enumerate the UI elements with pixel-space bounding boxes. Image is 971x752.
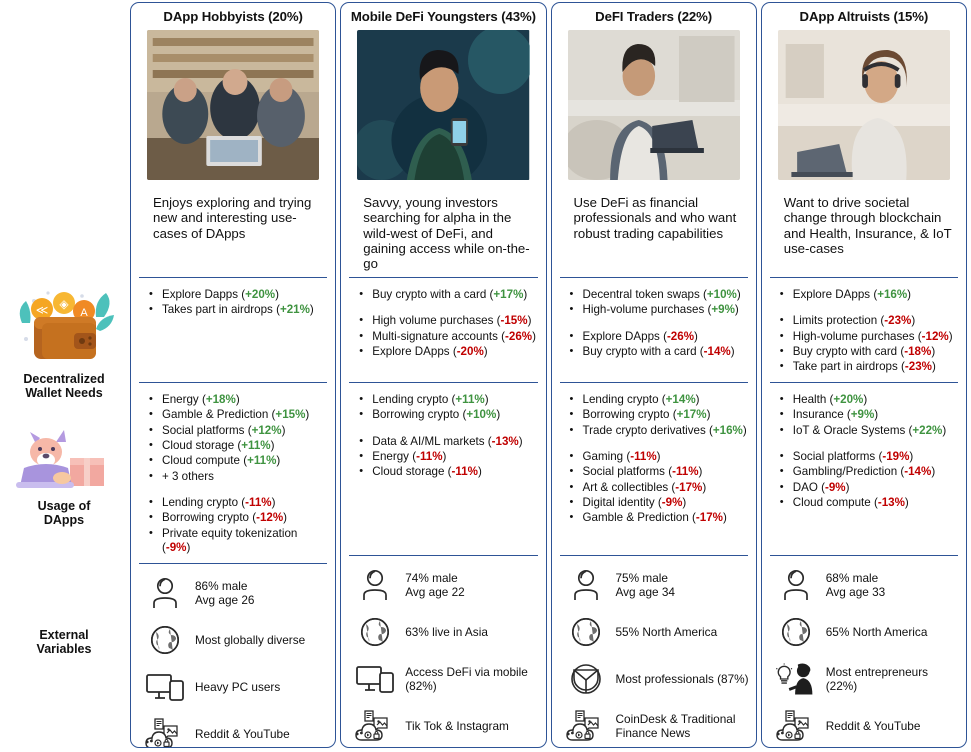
usage-section: Lending crypto (+11%)Borrowing crypto (+… [341, 383, 545, 555]
bullet-delta-value: +18% [206, 393, 236, 406]
external-variable-row: Access DeFi via mobile (82%) [355, 662, 539, 696]
bullet-item: Gamble & Prediction (-17%) [570, 511, 748, 526]
column-tagline: Use DeFi as financial professionals and … [552, 181, 756, 277]
bullet-delta-value: -11% [452, 465, 478, 478]
external-variable-row: Heavy PC users [145, 670, 329, 704]
bullet-item: Buy crypto with card (-18%) [780, 345, 958, 360]
persona-comparison-board: ≪ ◈ A Decentralized Wallet Needs [0, 0, 971, 752]
bullet-item: Takes part in airdrops (+21%) [149, 303, 327, 318]
bullet-label: Take part in airdrops [793, 360, 898, 373]
usage-positive-list: Energy (+18%)Gamble & Prediction (+15%)S… [149, 393, 327, 485]
bullet-item: Social platforms (+12%) [149, 424, 327, 439]
bullet-item: Gambling/Prediction (-14%) [780, 465, 958, 480]
wallet-positive-list: Buy crypto with a card (+17%) [359, 288, 537, 303]
external-variable-text: 75% male Avg age 34 [616, 571, 675, 599]
usage-positive-list: Health (+20%)Insurance (+9%)IoT & Oracle… [780, 393, 958, 439]
external-variables-section: 75% male Avg age 3455% North AmericaMost… [552, 556, 756, 748]
bullet-item: High volume purchases (-15%) [359, 314, 537, 329]
bullet-item: Decentral token swaps (+10%) [570, 288, 748, 303]
bullet-delta-value: +10% [707, 288, 737, 301]
bullet-label: Energy [162, 393, 199, 406]
person-icon [566, 568, 606, 602]
external-variable-row: Most professionals (87%) [566, 662, 750, 696]
external-variable-row: Tik Tok & Instagram [355, 709, 539, 743]
usage-section: Health (+20%)Insurance (+9%)IoT & Oracle… [762, 383, 966, 555]
persona-column-defi-traders[interactable]: DeFI Traders (22%) [551, 2, 757, 748]
column-title: DeFI Traders (22%) [552, 3, 756, 29]
rail-label-external: External Variables [0, 628, 128, 656]
bullet-item: Social platforms (-11%) [570, 465, 748, 480]
usage-negative-list: Data & AI/ML markets (-13%)Energy (-11%)… [359, 435, 537, 481]
globe-icon [355, 615, 395, 649]
man-sofa-laptop-photo [568, 30, 740, 180]
bullet-delta-value: -11% [630, 450, 656, 463]
bullet-label: Gambling/Prediction [793, 465, 897, 478]
external-variable-text: Access DeFi via mobile (82%) [405, 665, 539, 693]
bullet-delta-value: -11% [245, 496, 271, 509]
bullet-item: Multi-signature accounts (-26%) [359, 330, 537, 345]
bullet-delta-value: -26% [667, 330, 694, 343]
wallet-needs-section: Explore DApps (+16%) Limits protection (… [762, 278, 966, 382]
bullet-delta-value: +11% [455, 393, 484, 406]
media-cloud-icon [355, 709, 395, 743]
bullet-delta-value: +17% [677, 408, 707, 421]
bullet-label: + 3 others [162, 470, 214, 483]
persona-column-mobile-defi-youngsters[interactable]: Mobile DeFi Youngsters (43%) [340, 2, 546, 748]
bullet-label: Social platforms [583, 465, 665, 478]
bullet-item: Insurance (+9%) [780, 408, 958, 423]
idea-person-icon [776, 662, 816, 696]
devices-icon [355, 662, 395, 696]
bullet-label: Cloud compute [793, 496, 871, 509]
column-tagline: Savvy, young investors searching for alp… [341, 181, 545, 277]
bullet-item: Lending crypto (+11%) [359, 393, 537, 408]
persona-column-dapp-altruists[interactable]: DApp Altruists (15%) [761, 2, 967, 748]
bullet-item: Health (+20%) [780, 393, 958, 408]
bullet-label: Social platforms [793, 450, 875, 463]
bullet-delta-value: +20% [245, 288, 275, 301]
bullet-item: Trade crypto derivatives (+16%) [570, 424, 748, 439]
rail-block-external: External Variables [0, 628, 128, 656]
bullet-label: Buy crypto with card [793, 345, 897, 358]
wallet-needs-section: Buy crypto with a card (+17%) High volum… [341, 278, 545, 382]
column-photo-wrap [762, 29, 966, 181]
bullet-item: Explore DApps (-20%) [359, 345, 537, 360]
bullet-item: Gamble & Prediction (+15%) [149, 408, 327, 423]
external-variables-section: 68% male Avg age 3365% North AmericaMost… [762, 556, 966, 748]
external-variable-row: 68% male Avg age 33 [776, 568, 960, 602]
external-variable-text: 86% male Avg age 26 [195, 579, 254, 607]
young-man-phone-photo [357, 30, 529, 180]
bullet-label: Explore DApps [793, 288, 870, 301]
wallet-negative-list: Explore DApps (-26%)Buy crypto with a ca… [570, 330, 748, 361]
dog-package-icon [0, 430, 128, 497]
bullet-delta-value: +16% [713, 424, 743, 437]
rail-label-usage: Usage of DApps [0, 499, 128, 527]
external-variable-row: 55% North America [566, 615, 750, 649]
usage-section: Lending crypto (+14%)Borrowing crypto (+… [552, 383, 756, 555]
column-photo-wrap [552, 29, 756, 181]
bullet-label: Cloud compute [162, 454, 240, 467]
external-variable-row: 75% male Avg age 34 [566, 568, 750, 602]
bullet-delta-value: -23% [905, 360, 932, 373]
bullet-item: Explore Dapps (+20%) [149, 288, 327, 303]
bullet-label: IoT & Oracle Systems [793, 424, 906, 437]
bullet-delta-value: -12% [256, 511, 283, 524]
bullet-label: High-volume purchases [583, 303, 705, 316]
external-variable-text: Most entrepreneurs (22%) [826, 665, 960, 693]
external-variable-row: Reddit & YouTube [145, 717, 329, 748]
bullet-label: Lending crypto [162, 496, 238, 509]
bullet-delta-value: -9% [662, 496, 683, 509]
wallet-positive-list: Explore DApps (+16%) [780, 288, 958, 303]
column-tagline: Enjoys exploring and trying new and inte… [131, 181, 335, 277]
column-photo-wrap [341, 29, 545, 181]
bullet-item: Cloud compute (+11%) [149, 454, 327, 469]
bullet-label: Digital identity [583, 496, 655, 509]
bullet-item: + 3 others [149, 470, 327, 485]
bullet-delta-value: +15% [275, 408, 305, 421]
bullet-label: Borrowing crypto [162, 511, 249, 524]
column-photo-wrap [131, 29, 335, 181]
bullet-label: Cloud storage [372, 465, 444, 478]
bullet-label: Health [793, 393, 827, 406]
bullet-delta-value: +9% [851, 408, 875, 421]
bullet-item: Digital identity (-9%) [570, 496, 748, 511]
bullet-item: Buy crypto with a card (-14%) [570, 345, 748, 360]
bullet-label: Lending crypto [583, 393, 659, 406]
bullet-delta-value: -9% [166, 541, 187, 554]
bullet-item: Cloud storage (+11%) [149, 439, 327, 454]
bullet-item: Energy (+18%) [149, 393, 327, 408]
wallet-positive-list: Decentral token swaps (+10%)High-volume … [570, 288, 748, 319]
external-variable-row: CoinDesk & Traditional Finance News [566, 709, 750, 743]
usage-positive-list: Lending crypto (+14%)Borrowing crypto (+… [570, 393, 748, 439]
usage-section: Energy (+18%)Gamble & Prediction (+15%)S… [131, 383, 335, 563]
wallet-needs-section: Decentral token swaps (+10%)High-volume … [552, 278, 756, 382]
bullet-delta-value: +22% [912, 424, 942, 437]
external-variable-row: Most entrepreneurs (22%) [776, 662, 960, 696]
bullet-label: DAO [793, 481, 821, 494]
usage-negative-list: Gaming (-11%)Social platforms (-11%)Art … [570, 450, 748, 527]
woman-headphones-laptop-photo [778, 30, 950, 180]
bullet-item: Private equity tokenization (-9%) [149, 527, 327, 557]
bullet-item: Energy (-11%) [359, 450, 537, 465]
rail-block-usage: Usage of DApps [0, 430, 128, 527]
wallet-coins-icon: ≪ ◈ A [0, 287, 128, 370]
bullet-label: Gaming [583, 450, 624, 463]
bullet-label: Buy crypto with a card [583, 345, 697, 358]
bullet-delta-value: -26% [505, 330, 532, 343]
external-variable-text: 68% male Avg age 33 [826, 571, 885, 599]
column-title: DApp Hobbyists (20%) [131, 3, 335, 29]
bullet-label: Borrowing crypto [372, 408, 459, 421]
bullet-label: Private equity tokenization [162, 527, 297, 540]
bullet-item: High-volume purchases (+9%) [570, 303, 748, 318]
bullet-item: Explore DApps (+16%) [780, 288, 958, 303]
bullet-item: Borrowing crypto (+17%) [570, 408, 748, 423]
bullet-label: Social platforms [162, 424, 244, 437]
column-title: Mobile DeFi Youngsters (43%) [341, 3, 545, 29]
bullet-item: Explore DApps (-26%) [570, 330, 748, 345]
external-variable-text: 65% North America [826, 625, 928, 639]
bullet-delta-value: -19% [882, 450, 909, 463]
external-variable-text: Heavy PC users [195, 680, 280, 694]
external-variable-row: 86% male Avg age 26 [145, 576, 329, 610]
wallet-needs-section: Explore Dapps (+20%)Takes part in airdro… [131, 278, 335, 382]
external-variable-text: 55% North America [616, 625, 718, 639]
bullet-item: Borrowing crypto (+10%) [359, 408, 537, 423]
bullet-delta-value: -12% [922, 330, 949, 343]
person-icon [776, 568, 816, 602]
bullet-label: Insurance [793, 408, 844, 421]
bullet-delta-value: +16% [877, 288, 907, 301]
bullet-delta-value: +21% [280, 303, 310, 316]
svg-text:◈: ◈ [59, 297, 69, 311]
external-variable-row: 63% live in Asia [355, 615, 539, 649]
wallet-negative-list: Limits protection (-23%)High-volume purc… [780, 314, 958, 375]
bullet-label: High-volume purchases [793, 330, 915, 343]
external-variable-text: Reddit & YouTube [195, 727, 290, 741]
usage-negative-list: Social platforms (-19%)Gambling/Predicti… [780, 450, 958, 511]
bullet-item: Lending crypto (-11%) [149, 496, 327, 511]
rail-label-wallet: Decentralized Wallet Needs [0, 372, 128, 400]
bullet-delta-value: -20% [457, 345, 484, 358]
bullet-delta-value: +11% [247, 454, 276, 467]
bullet-label: Lending crypto [372, 393, 448, 406]
usage-negative-list: Lending crypto (-11%)Borrowing crypto (-… [149, 496, 327, 557]
bullet-label: Explore Dapps [162, 288, 238, 301]
bullet-label: Limits protection [793, 314, 877, 327]
bullet-item: Art & collectibles (-17%) [570, 481, 748, 496]
bullet-label: Decentral token swaps [583, 288, 700, 301]
bullet-delta-value: -14% [704, 345, 731, 358]
external-variables-section: 86% male Avg age 26Most globally diverse… [131, 564, 335, 748]
bullet-label: Multi-signature accounts [372, 330, 498, 343]
bullet-item: High-volume purchases (-12%) [780, 330, 958, 345]
column-title: DApp Altruists (15%) [762, 3, 966, 29]
bullet-item: Cloud storage (-11%) [359, 465, 537, 480]
category-rail: ≪ ◈ A Decentralized Wallet Needs [0, 0, 128, 752]
bullet-delta-value: -13% [492, 435, 519, 448]
bullet-item: Borrowing crypto (-12%) [149, 511, 327, 526]
devices-icon [145, 670, 185, 704]
globe-icon [145, 623, 185, 657]
persona-columns: DApp Hobbyists (20%) [128, 0, 971, 752]
bullet-label: Buy crypto with a card [372, 288, 486, 301]
svg-text:≪: ≪ [36, 303, 49, 317]
bullet-label: Art & collectibles [583, 481, 669, 494]
persona-column-dapp-hobbyists[interactable]: DApp Hobbyists (20%) [130, 2, 336, 748]
globe-icon [566, 615, 606, 649]
globe-icon [776, 615, 816, 649]
bullet-delta-value: -9% [825, 481, 846, 494]
bullet-label: High volume purchases [372, 314, 493, 327]
media-cloud-icon [566, 709, 606, 743]
external-variable-text: Most professionals (87%) [616, 672, 749, 686]
column-tagline: Want to drive societal change through bl… [762, 181, 966, 277]
media-cloud-icon [145, 717, 185, 748]
bullet-label: Cloud storage [162, 439, 234, 452]
bullet-item: Cloud compute (-13%) [780, 496, 958, 511]
bullet-delta-value: -17% [675, 481, 702, 494]
bullet-delta-value: +9% [711, 303, 735, 316]
bullet-item: Data & AI/ML markets (-13%) [359, 435, 537, 450]
rail-block-wallet: ≪ ◈ A Decentralized Wallet Needs [0, 287, 128, 400]
external-variable-row: Most globally diverse [145, 623, 329, 657]
bullet-item: Social platforms (-19%) [780, 450, 958, 465]
bullet-item: IoT & Oracle Systems (+22%) [780, 424, 958, 439]
bullet-delta-value: +11% [241, 439, 270, 452]
briefcase-tie-icon [566, 662, 606, 696]
bullet-item: Lending crypto (+14%) [570, 393, 748, 408]
bullet-label: Gamble & Prediction [583, 511, 689, 524]
bullet-delta-value: +14% [666, 393, 696, 406]
external-variable-text: Tik Tok & Instagram [405, 719, 509, 733]
bullet-delta-value: +10% [466, 408, 496, 421]
external-variable-text: 74% male Avg age 22 [405, 571, 464, 599]
person-icon [355, 568, 395, 602]
external-variable-row: 74% male Avg age 22 [355, 568, 539, 602]
bullet-item: DAO (-9%) [780, 481, 958, 496]
media-cloud-icon [776, 709, 816, 743]
external-variable-text: 63% live in Asia [405, 625, 488, 639]
external-variable-text: Most globally diverse [195, 633, 305, 647]
bullet-delta-value: +20% [833, 393, 863, 406]
men-around-laptop-photo [147, 30, 319, 180]
bullet-delta-value: -11% [672, 465, 698, 478]
bullet-item: Buy crypto with a card (+17%) [359, 288, 537, 303]
person-icon [145, 576, 185, 610]
bullet-item: Gaming (-11%) [570, 450, 748, 465]
bullet-delta-value: -17% [696, 511, 723, 524]
bullet-delta-value: +12% [252, 424, 282, 437]
bullet-delta-value: -15% [501, 314, 528, 327]
bullet-label: Gamble & Prediction [162, 408, 272, 421]
bullet-label: Data & AI/ML markets [372, 435, 484, 448]
bullet-label: Borrowing crypto [583, 408, 670, 421]
bullet-label: Takes part in airdrops [162, 303, 273, 316]
bullet-delta-value: +17% [493, 288, 523, 301]
external-variable-text: CoinDesk & Traditional Finance News [616, 712, 750, 740]
bullet-delta-value: -14% [904, 465, 931, 478]
usage-positive-list: Lending crypto (+11%)Borrowing crypto (+… [359, 393, 537, 424]
bullet-item: Take part in airdrops (-23%) [780, 360, 958, 375]
bullet-label: Explore DApps [583, 330, 660, 343]
external-variable-row: 65% North America [776, 615, 960, 649]
external-variable-text: Reddit & YouTube [826, 719, 921, 733]
bullet-delta-value: -11% [416, 450, 442, 463]
bullet-label: Trade crypto derivatives [583, 424, 706, 437]
wallet-negative-list: High volume purchases (-15%)Multi-signat… [359, 314, 537, 360]
bullet-label: Explore DApps [372, 345, 449, 358]
bullet-label: Energy [372, 450, 409, 463]
external-variables-section: 74% male Avg age 2263% live in AsiaAcces… [341, 556, 545, 748]
bullet-delta-value: -13% [878, 496, 905, 509]
external-variable-row: Reddit & YouTube [776, 709, 960, 743]
bullet-item: Limits protection (-23%) [780, 314, 958, 329]
bullet-delta-value: -23% [884, 314, 911, 327]
bullet-delta-value: -18% [904, 345, 931, 358]
wallet-positive-list: Explore Dapps (+20%)Takes part in airdro… [149, 288, 327, 319]
